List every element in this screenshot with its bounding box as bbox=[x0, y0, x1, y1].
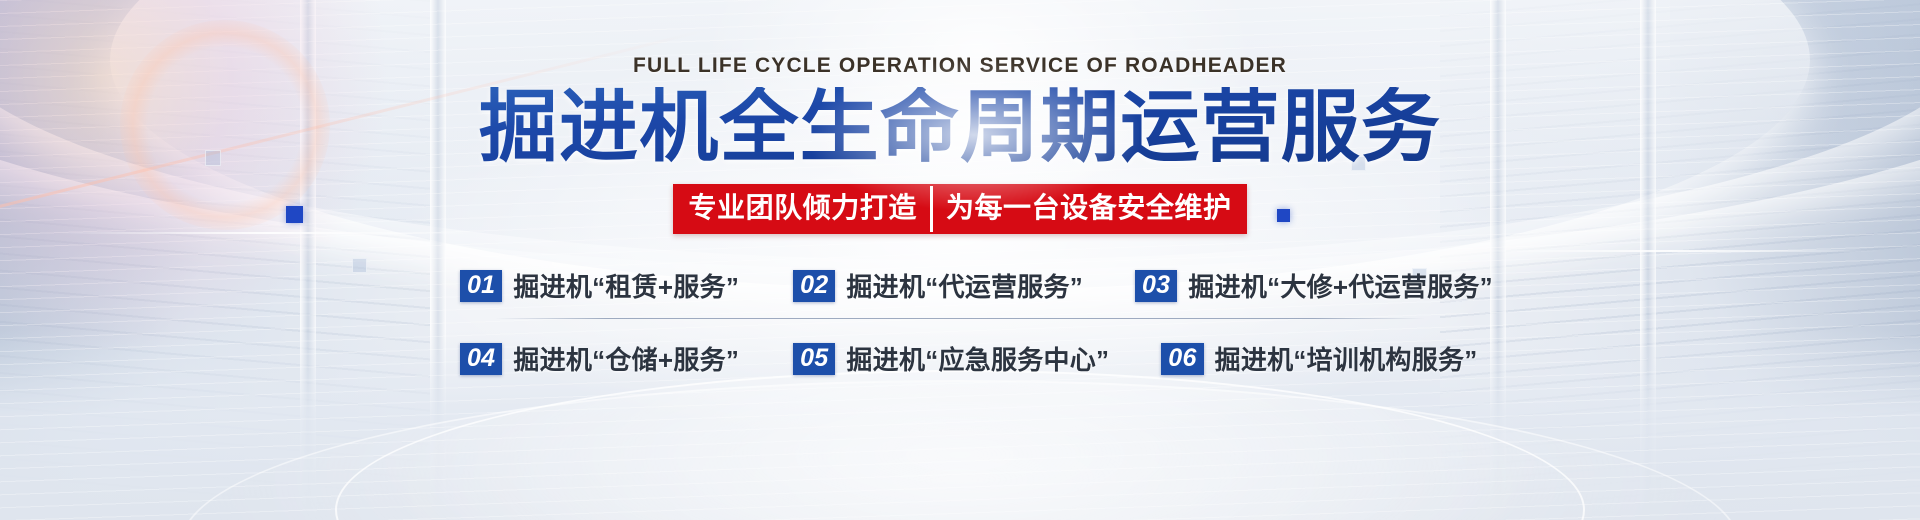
service-number-05: 05 bbox=[793, 343, 835, 375]
service-number-06: 06 bbox=[1161, 343, 1203, 375]
tagline-segment-2: 为每一台设备安全维护 bbox=[930, 186, 1245, 232]
hero-banner: FULL LIFE CYCLE OPERATION SERVICE OF ROA… bbox=[0, 0, 1920, 520]
banner-eyebrow-english: FULL LIFE CYCLE OPERATION SERVICE OF ROA… bbox=[633, 54, 1287, 78]
tagline-banner: 专业团队倾力打造 为每一台设备安全维护 bbox=[673, 184, 1246, 234]
service-number-04: 04 bbox=[460, 343, 502, 375]
service-label-06: 掘进机“培训机构服务” bbox=[1215, 340, 1478, 377]
service-label-01: 掘进机“租赁+服务” bbox=[513, 267, 739, 304]
service-label-04: 掘进机“仓储+服务” bbox=[513, 340, 739, 377]
service-item-03[interactable]: 03 掘进机“大修+代运营服务” bbox=[1135, 267, 1493, 304]
service-item-01[interactable]: 01 掘进机“租赁+服务” bbox=[460, 267, 739, 304]
banner-content: FULL LIFE CYCLE OPERATION SERVICE OF ROA… bbox=[0, 0, 1920, 520]
service-label-02: 掘进机“代运营服务” bbox=[846, 267, 1083, 304]
banner-headline: 掘进机全生命周期运营服务 bbox=[479, 87, 1441, 168]
service-item-05[interactable]: 05 掘进机“应急服务中心” bbox=[793, 340, 1109, 377]
service-divider bbox=[495, 318, 1425, 319]
service-list: 01 掘进机“租赁+服务” 02 掘进机“代运营服务” 03 掘进机“大修+代运… bbox=[460, 262, 1460, 383]
service-item-02[interactable]: 02 掘进机“代运营服务” bbox=[793, 267, 1083, 304]
service-row-1: 01 掘进机“租赁+服务” 02 掘进机“代运营服务” 03 掘进机“大修+代运… bbox=[460, 262, 1460, 310]
service-label-03: 掘进机“大修+代运营服务” bbox=[1188, 267, 1493, 304]
service-row-2: 04 掘进机“仓储+服务” 05 掘进机“应急服务中心” 06 掘进机“培训机构… bbox=[460, 335, 1460, 383]
headline-wrapper: 掘进机全生命周期运营服务 bbox=[479, 78, 1441, 168]
service-label-05: 掘进机“应急服务中心” bbox=[846, 340, 1109, 377]
service-item-04[interactable]: 04 掘进机“仓储+服务” bbox=[460, 340, 739, 377]
service-number-01: 01 bbox=[460, 270, 502, 302]
service-number-03: 03 bbox=[1135, 270, 1177, 302]
service-number-02: 02 bbox=[793, 270, 835, 302]
service-item-06[interactable]: 06 掘进机“培训机构服务” bbox=[1161, 340, 1477, 377]
tagline-segment-1: 专业团队倾力打造 bbox=[675, 186, 929, 232]
